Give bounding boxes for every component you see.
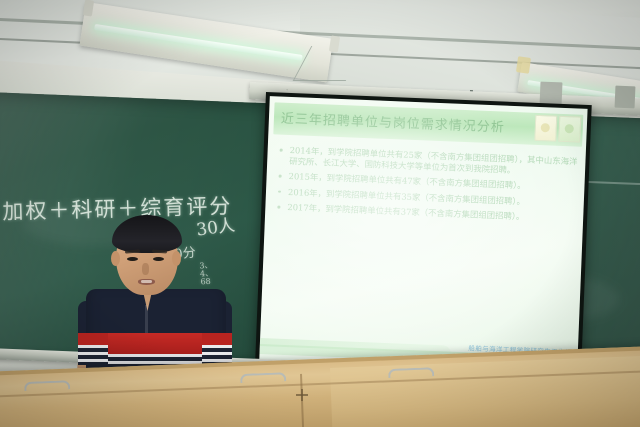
shirt-placket <box>145 305 148 333</box>
projected-slide: 近三年招聘单位与岗位需求情况分析 2014年，到学院招聘单位共有25家（不含南方… <box>259 96 587 373</box>
projection-screen: 近三年招聘单位与岗位需求情况分析 2014年，到学院招聘单位共有25家（不含南方… <box>255 92 592 377</box>
roller-bracket-right <box>615 86 636 109</box>
hair <box>112 215 182 253</box>
desk-drawer-handle-center[interactable] <box>240 372 286 383</box>
desk-drawer-handle-left[interactable] <box>24 380 70 391</box>
eye-left <box>127 257 138 261</box>
roller-brand-label: ◦ <box>286 87 289 92</box>
sleeve-stripes-left <box>78 345 108 365</box>
slide-decoration-right <box>558 116 581 143</box>
ceiling-tag <box>516 56 531 74</box>
slide-decoration-left <box>534 115 557 142</box>
nose <box>142 263 149 275</box>
ear-left <box>111 251 120 266</box>
ear-right <box>172 251 181 266</box>
sleeve-red-band-right <box>202 333 232 345</box>
decoration-dot <box>565 124 574 133</box>
classroom-photo: 加权＋科研＋综育评分 30人 60分 3、 4、 68 ↓ ◦ 近三年招聘单位与… <box>0 0 640 427</box>
desk-mark-vertical <box>301 389 303 401</box>
slide-bullet-list: 2014年，到学院招聘单位共有25家（不含南方集团组团招聘），其中山东海洋研究所… <box>275 145 578 230</box>
decoration-dot <box>541 123 550 132</box>
desk-drawer-handle-right[interactable] <box>388 367 434 378</box>
desk-panel-right <box>330 355 640 427</box>
eye-right <box>153 257 164 261</box>
teeth <box>141 280 152 283</box>
sleeve-red-band-left <box>78 333 108 345</box>
